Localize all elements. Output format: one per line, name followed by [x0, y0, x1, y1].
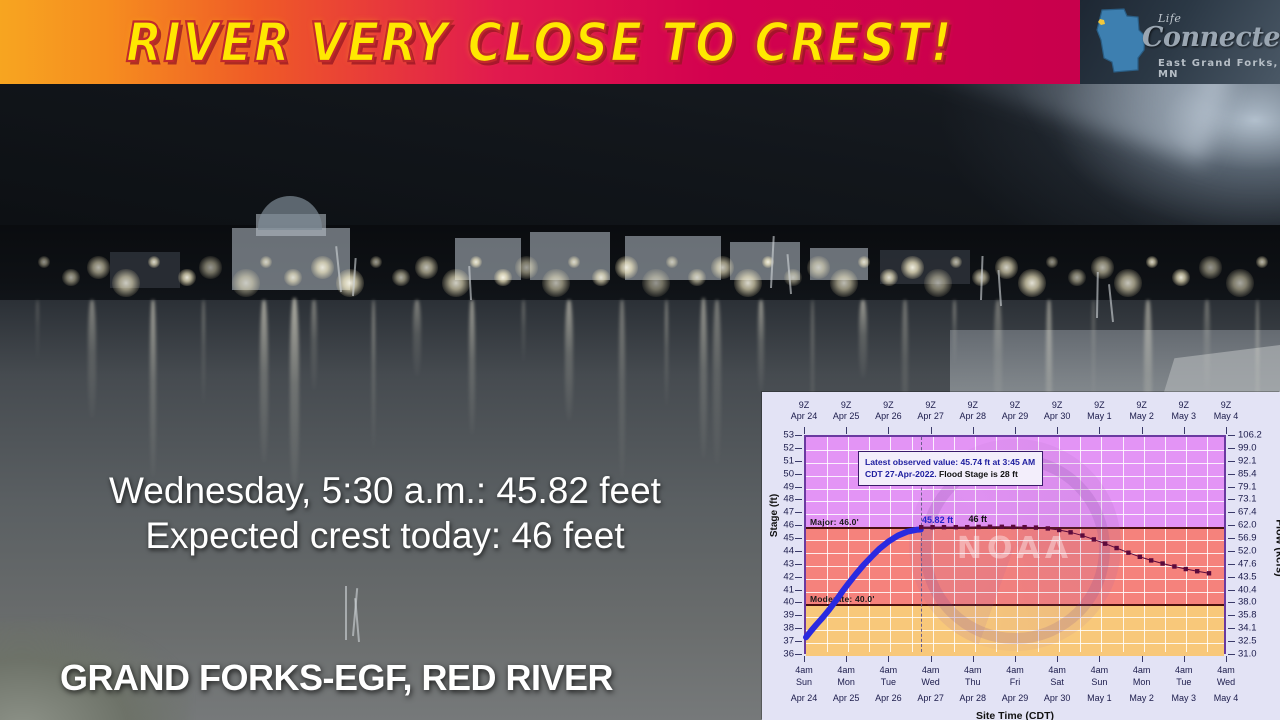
flow-tick [1228, 499, 1235, 500]
street-light [284, 269, 301, 286]
observed-stage-line [806, 529, 921, 637]
flow-tick-label: 43.5 [1238, 571, 1257, 582]
stage-tick [795, 538, 802, 539]
flow-tick [1228, 628, 1235, 629]
top-axis-tick [804, 427, 805, 434]
flow-tick-label: 40.4 [1238, 584, 1257, 595]
flow-tick-label: 56.9 [1238, 533, 1257, 544]
stage-tick [795, 615, 802, 616]
street-light [148, 256, 160, 268]
top-axis-tick-label: 9ZApr 24 [791, 400, 818, 423]
station-logo: Life Connected East Grand Forks, MN [1080, 0, 1280, 84]
flow-tick [1228, 641, 1235, 642]
flow-tick-label: 34.1 [1238, 623, 1257, 634]
bottom-axis-tick [1057, 656, 1058, 662]
water-reflection [372, 300, 375, 448]
caption-line-1: Wednesday, 5:30 a.m.: 45.82 feet [109, 470, 661, 511]
flow-tick [1228, 435, 1235, 436]
water-reflection-main [290, 298, 299, 488]
bottom-axis-tick [888, 656, 889, 662]
forecast-marker [1172, 564, 1176, 568]
street-light [924, 269, 952, 297]
top-date-axis: 9ZApr 249ZApr 259ZApr 269ZApr 279ZApr 28… [804, 394, 1226, 434]
top-axis-tick-label: 9ZMay 3 [1172, 400, 1197, 423]
water-reflection [311, 300, 316, 390]
top-axis-tick [846, 427, 847, 434]
bottom-axis-tick-label: 4amThuApr 28 [960, 664, 987, 704]
forecast-marker [1092, 537, 1096, 541]
stage-tick [795, 551, 802, 552]
forecast-marker [919, 525, 923, 529]
bottom-axis-tick-label: 4amTueApr 26 [875, 664, 902, 704]
water-reflection [665, 300, 668, 406]
water-reflection [260, 300, 268, 462]
street-light [784, 269, 801, 286]
flow-tick-label: 35.8 [1238, 610, 1257, 621]
street-light [392, 269, 409, 286]
street-light [901, 256, 924, 279]
stage-tick [795, 525, 802, 526]
street-light [1199, 256, 1222, 279]
flow-tick-label: 52.0 [1238, 545, 1257, 556]
forecast-marker [1011, 525, 1015, 529]
street-light [807, 256, 830, 279]
flow-tick-label: 106.2 [1238, 430, 1262, 441]
top-axis-tick [973, 427, 974, 434]
forecast-marker [1057, 528, 1061, 532]
flow-axis: 31.032.534.135.838.040.443.547.652.056.9… [1226, 435, 1278, 654]
bottom-axis-tick-label: 4amSunMay 1 [1087, 664, 1112, 704]
forecast-marker [1103, 541, 1107, 545]
forecast-marker [1207, 571, 1211, 575]
stage-tick-label: 43 [783, 558, 794, 569]
forecast-stage-line [921, 527, 1209, 574]
street-light [470, 256, 482, 268]
bottom-axis-tick-label: 4amTueMay 3 [1172, 664, 1197, 704]
point-label-observed: 45.82 ft [922, 515, 953, 525]
flow-tick-label: 73.1 [1238, 494, 1257, 505]
forecast-marker [976, 525, 980, 529]
forecast-marker [1138, 555, 1142, 559]
top-axis-tick-label: 9ZMay 1 [1087, 400, 1112, 423]
flow-tick-label: 47.6 [1238, 558, 1257, 569]
street-light [858, 256, 870, 268]
forecast-marker [1184, 567, 1188, 571]
street-light [1172, 269, 1189, 286]
forecast-marker [988, 525, 992, 529]
plot-area: NOAA Major: 46.0'Moderate: 40.0' 45.82 f… [804, 435, 1226, 654]
flow-tick [1228, 577, 1235, 578]
forecast-marker [1149, 558, 1153, 562]
stage-tick-label: 39 [783, 610, 794, 621]
stage-tick-label: 52 [783, 442, 794, 453]
bottom-axis-tick [1226, 656, 1227, 662]
street-light [494, 269, 511, 286]
bottom-axis-tick-label: 4amWedApr 27 [917, 664, 944, 704]
water-reflection [953, 300, 956, 364]
bare-tree [345, 586, 347, 640]
top-axis-tick [1015, 427, 1016, 434]
top-axis-tick-label: 9ZApr 28 [960, 400, 987, 423]
stage-tick-label: 36 [783, 649, 794, 660]
bottom-axis-tick-label: 4amSatApr 30 [1044, 664, 1071, 704]
stage-tick [795, 564, 802, 565]
street-light [1226, 269, 1254, 297]
street-light [1256, 256, 1268, 268]
stage-tick [795, 602, 802, 603]
forecast-marker [1000, 525, 1004, 529]
stage-tick [795, 628, 802, 629]
stage-tick [795, 654, 802, 655]
water-reflection [859, 300, 867, 378]
bottom-axis-tick [931, 656, 932, 662]
bottom-axis-tick-label: 4amFriApr 29 [1002, 664, 1029, 704]
street-light [1114, 269, 1142, 297]
stage-tick-label: 47 [783, 507, 794, 518]
street-light [615, 256, 638, 279]
water-reflection [619, 300, 624, 478]
location-caption: GRAND FORKS-EGF, RED RIVER [60, 657, 613, 699]
forecast-marker [942, 525, 946, 529]
stage-tick [795, 590, 802, 591]
bottom-axis-tick-label: 4amMonMay 2 [1129, 664, 1154, 704]
flow-tick [1228, 551, 1235, 552]
top-axis-tick-label: 9ZApr 30 [1044, 400, 1071, 423]
hydrograph-panel: Stage (ft) Flow (kcfs) Site Time (CDT) 9… [762, 392, 1280, 720]
stage-tick [795, 435, 802, 436]
top-axis-tick [1226, 427, 1227, 434]
street-light [711, 256, 734, 279]
street-light [1046, 256, 1058, 268]
stage-tick [795, 641, 802, 642]
top-axis-tick-label: 9ZApr 25 [833, 400, 860, 423]
flow-tick-label: 31.0 [1238, 649, 1257, 660]
top-axis-tick [1099, 427, 1100, 434]
forecast-marker [1046, 526, 1050, 530]
forecast-marker [1034, 525, 1038, 529]
stage-tick-label: 53 [783, 430, 794, 441]
annotation-line-1: Latest observed value: 45.74 ft at 3:45 … [865, 456, 1035, 468]
street-light [1091, 256, 1114, 279]
stage-tick-label: 45 [783, 533, 794, 544]
headline-banner: RIVER VERY CLOSE TO CREST! [0, 0, 1080, 84]
stage-tick [795, 577, 802, 578]
flow-tick [1228, 538, 1235, 539]
river-stage-caption: Wednesday, 5:30 a.m.: 45.82 feet Expecte… [0, 468, 770, 558]
street-light [178, 269, 195, 286]
stage-tick-label: 44 [783, 545, 794, 556]
stage-tick-label: 48 [783, 494, 794, 505]
street-light [442, 269, 470, 297]
top-axis-tick [1184, 427, 1185, 434]
flow-tick [1228, 512, 1235, 513]
street-light [232, 269, 260, 297]
stage-tick-label: 49 [783, 481, 794, 492]
bottom-axis-tick [1142, 656, 1143, 662]
flow-tick-label: 38.0 [1238, 597, 1257, 608]
top-axis-tick-label: 9ZApr 29 [1002, 400, 1029, 423]
street-light [311, 256, 334, 279]
water-reflection [413, 300, 421, 376]
water-reflection [150, 300, 155, 476]
flow-tick-label: 85.4 [1238, 468, 1257, 479]
flow-tick-label: 67.4 [1238, 507, 1257, 518]
forecast-marker [930, 525, 934, 529]
stage-tick-label: 50 [783, 468, 794, 479]
water-reflection [469, 300, 474, 434]
top-axis-tick [931, 427, 932, 434]
stage-tick-label: 38 [783, 623, 794, 634]
street-light [1018, 269, 1046, 297]
bottom-axis-tick [1015, 656, 1016, 662]
flow-tick-label: 79.1 [1238, 481, 1257, 492]
street-light [87, 256, 110, 279]
water-reflection-main [700, 298, 707, 458]
flood-stage-text: Flood Stage is 28 ft [939, 469, 1018, 479]
flow-tick [1228, 602, 1235, 603]
water-reflection [713, 300, 721, 464]
street-light [830, 269, 858, 297]
forecast-marker [1022, 525, 1026, 529]
street-light [950, 256, 962, 268]
flow-tick-label: 32.5 [1238, 636, 1257, 647]
forecast-marker [965, 525, 969, 529]
flow-tick [1228, 590, 1235, 591]
water-reflection [758, 300, 763, 392]
forecast-marker [1068, 530, 1072, 534]
street-light [515, 256, 538, 279]
street-light [666, 256, 678, 268]
flow-tick [1228, 474, 1235, 475]
street-light [199, 256, 222, 279]
top-axis-tick [888, 427, 889, 434]
bottom-axis-tick-label: 4amMonApr 25 [833, 664, 860, 704]
point-label-forecast: 46 ft [968, 514, 987, 524]
annotation-line-2: CDT 27-Apr-2022. Flood Stage is 28 ft [865, 468, 1035, 480]
headline-text: RIVER VERY CLOSE TO CREST! [126, 10, 953, 74]
forecast-marker [1195, 569, 1199, 573]
stage-tick-label: 41 [783, 584, 794, 595]
stage-tick [795, 474, 802, 475]
street-light [260, 256, 272, 268]
logo-city-text: East Grand Forks, MN [1158, 58, 1280, 80]
stage-tick-label: 51 [783, 455, 794, 466]
logo-connected-text: Connected [1142, 22, 1280, 53]
bottom-axis-tick [804, 656, 805, 662]
stage-tick-label: 42 [783, 571, 794, 582]
top-axis-tick-label: 9ZMay 2 [1129, 400, 1154, 423]
stage-tick [795, 499, 802, 500]
street-light [1146, 256, 1158, 268]
water-reflection [202, 300, 205, 404]
flow-tick [1228, 461, 1235, 462]
street-light [112, 269, 140, 297]
stage-tick-label: 37 [783, 636, 794, 647]
forecast-marker [1160, 561, 1164, 565]
forecast-marker [1080, 533, 1084, 537]
bottom-time-axis: 4amSunApr 244amMonApr 254amTueApr 264amW… [804, 656, 1226, 712]
annotation-date: CDT 27-Apr-2022. [865, 469, 939, 479]
flow-tick [1228, 448, 1235, 449]
top-axis-tick-label: 9ZApr 27 [917, 400, 944, 423]
flow-tick-label: 62.0 [1238, 520, 1257, 531]
street-light [370, 256, 382, 268]
water-reflection [88, 300, 96, 418]
street-light [592, 269, 609, 286]
screen: RIVER VERY CLOSE TO CREST! Life Connecte… [0, 0, 1280, 720]
water-reflection [522, 300, 525, 362]
street-light [642, 269, 670, 297]
top-axis-tick-label: 9ZApr 26 [875, 400, 902, 423]
street-light [542, 269, 570, 297]
street-light [734, 269, 762, 297]
top-axis-tick [1142, 427, 1143, 434]
stage-tick [795, 512, 802, 513]
observed-value-annotation: Latest observed value: 45.74 ft at 3:45 … [858, 451, 1043, 486]
street-light [62, 269, 79, 286]
street-light [568, 256, 580, 268]
flow-tick-label: 99.0 [1238, 442, 1257, 453]
flow-tick [1228, 525, 1235, 526]
stage-tick-label: 40 [783, 597, 794, 608]
bottom-axis-tick-label: 4amWedMay 4 [1214, 664, 1239, 704]
bottom-axis-tick [1184, 656, 1185, 662]
bottom-axis-tick-label: 4amSunApr 24 [791, 664, 818, 704]
caption-line-2: Expected crest today: 46 feet [0, 513, 770, 558]
stage-tick [795, 487, 802, 488]
forecast-marker [1114, 546, 1118, 550]
flow-tick [1228, 564, 1235, 565]
forecast-marker [1126, 550, 1130, 554]
flow-tick [1228, 487, 1235, 488]
street-light [688, 269, 705, 286]
street-light [880, 269, 897, 286]
bottom-axis-tick [846, 656, 847, 662]
street-light [415, 256, 438, 279]
street-light [1068, 269, 1085, 286]
flow-tick-label: 92.1 [1238, 455, 1257, 466]
forecast-marker [954, 525, 958, 529]
flow-tick [1228, 615, 1235, 616]
flow-tick [1228, 654, 1235, 655]
stage-tick [795, 448, 802, 449]
top-axis-tick-label: 9ZMay 4 [1214, 400, 1239, 423]
water-reflection [565, 300, 573, 420]
water-reflection [36, 300, 39, 360]
street-light [38, 256, 50, 268]
water-reflection [1204, 300, 1209, 394]
stage-tick [795, 461, 802, 462]
bottom-axis-tick [973, 656, 974, 662]
stage-axis: 363738394041424344454647484950515253 [762, 435, 804, 654]
bottom-axis-tick [1099, 656, 1100, 662]
top-axis-tick [1057, 427, 1058, 434]
stage-tick-label: 46 [783, 520, 794, 531]
